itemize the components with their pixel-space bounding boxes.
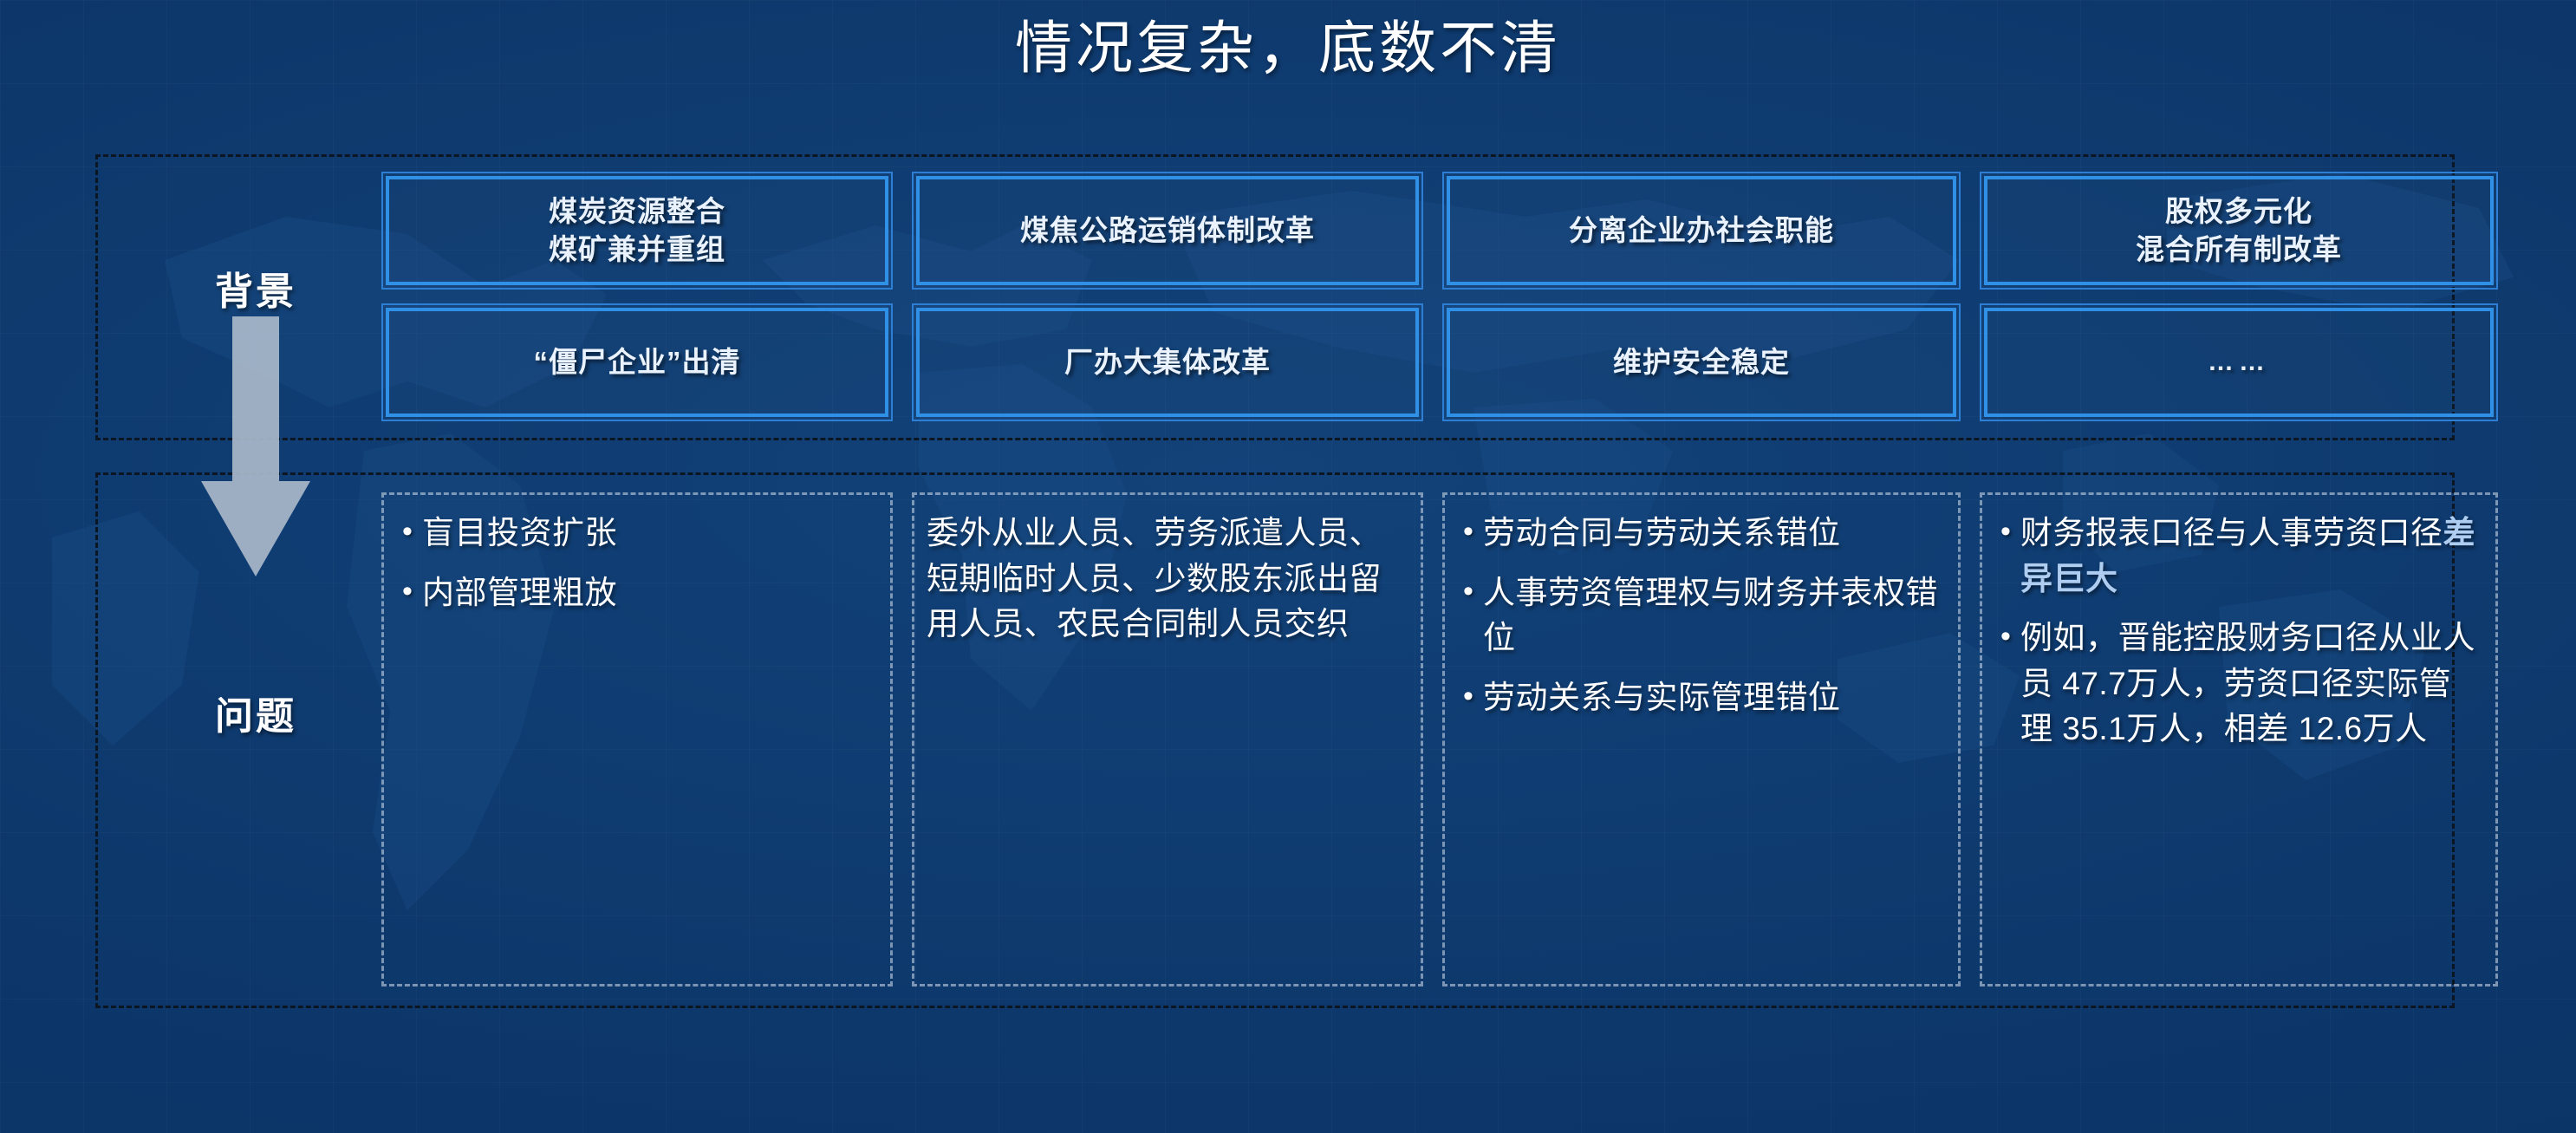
background-box[interactable]: 煤炭资源整合 煤矿兼并重组 [381, 172, 893, 290]
background-box-label: 煤炭资源整合 煤矿兼并重组 [549, 192, 725, 268]
problem-bullet-item: •劳动合同与劳动关系错位 [1454, 511, 1944, 557]
plain-phrase: 财务报表口径与人事劳资口径 [2020, 515, 2443, 550]
bullet-dot-icon: • [393, 570, 422, 612]
background-box-label: …… [2208, 345, 2270, 380]
bullet-dot-icon: • [1991, 615, 2020, 657]
problem-column-grid: •盲目投资扩张•内部管理粗放委外从业人员、劳务派遣人员、短期临时人员、少数股东派… [381, 492, 2441, 986]
background-box-frame: 煤焦公路运销体制改革 [916, 176, 1419, 285]
problem-bullet-text: 劳动关系与实际管理错位 [1483, 675, 1841, 721]
slide-title: 情况复杂，底数不清 [0, 12, 2576, 84]
background-box[interactable]: 股权多元化 混合所有制改革 [1980, 172, 2498, 290]
problem-bullet-text: 人事劳资管理权与财务并表权错位 [1483, 570, 1944, 661]
bullet-dot-icon: • [393, 511, 422, 552]
plain-phrase: 例如，晋能控股财务口径从业人员 47.7万人，劳资口径实际管理 35.1万人，相… [2020, 620, 2475, 746]
background-box-frame: 股权多元化 混合所有制改革 [1984, 176, 2494, 285]
background-box-frame: 煤炭资源整合 煤矿兼并重组 [386, 176, 888, 285]
background-box-frame: 维护安全稳定 [1447, 308, 1956, 417]
problem-column: 委外从业人员、劳务派遣人员、短期临时人员、少数股东派出留用人员、农民合同制人员交… [912, 492, 1423, 986]
background-box-frame: 分离企业办社会职能 [1447, 176, 1956, 285]
background-box[interactable]: 煤焦公路运销体制改革 [912, 172, 1423, 290]
background-box[interactable]: …… [1980, 303, 2498, 421]
background-box-frame: …… [1984, 308, 2494, 417]
problem-bullet-text: 劳动合同与劳动关系错位 [1483, 511, 1841, 557]
background-box-grid: 煤炭资源整合 煤矿兼并重组煤焦公路运销体制改革分离企业办社会职能股权多元化 混合… [381, 172, 2441, 421]
background-box-frame: “僵尸企业”出清 [386, 308, 888, 417]
background-box[interactable]: 分离企业办社会职能 [1442, 172, 1961, 290]
problem-bullet-item: •财务报表口径与人事劳资口径差异巨大 [1991, 511, 2482, 602]
section-label-problems: 问题 [169, 685, 342, 740]
slide-canvas: 情况复杂，底数不清 背景 问题 煤炭资源整合 煤矿兼并重组煤焦公路运销体制改革分… [0, 0, 2576, 1133]
bullet-dot-icon: • [1454, 511, 1483, 552]
problem-column: •盲目投资扩张•内部管理粗放 [381, 492, 893, 986]
section-label-background: 背景 [169, 260, 342, 316]
problem-bullet-item: •例如，晋能控股财务口径从业人员 47.7万人，劳资口径实际管理 35.1万人，… [1991, 615, 2482, 752]
background-box-label: 煤焦公路运销体制改革 [1020, 212, 1315, 250]
background-box[interactable]: 维护安全稳定 [1442, 303, 1961, 421]
background-box-label: 维护安全稳定 [1613, 343, 1790, 381]
problem-paragraph: 委外从业人员、劳务派遣人员、短期临时人员、少数股东派出留用人员、农民合同制人员交… [923, 511, 1407, 648]
problem-column: •劳动合同与劳动关系错位•人事劳资管理权与财务并表权错位•劳动关系与实际管理错位 [1442, 492, 1961, 986]
problem-column: •财务报表口径与人事劳资口径差异巨大•例如，晋能控股财务口径从业人员 47.7万… [1980, 492, 2498, 986]
problem-bullet-item: •劳动关系与实际管理错位 [1454, 675, 1944, 721]
problem-bullet-text: 内部管理粗放 [422, 570, 617, 616]
background-box-frame: 厂办大集体改革 [916, 308, 1419, 417]
background-box[interactable]: “僵尸企业”出清 [381, 303, 893, 421]
background-box-label: “僵尸企业”出清 [534, 343, 741, 381]
problem-bullet-text: 盲目投资扩张 [422, 511, 617, 557]
bullet-dot-icon: • [1454, 675, 1483, 717]
background-box-label: 厂办大集体改革 [1064, 343, 1271, 381]
background-box-label: 分离企业办社会职能 [1569, 212, 1834, 250]
background-box-label: 股权多元化 混合所有制改革 [2136, 192, 2342, 268]
problem-bullet-item: •内部管理粗放 [393, 570, 876, 616]
problem-bullet-item: •人事劳资管理权与财务并表权错位 [1454, 570, 1944, 661]
problem-bullet-text: 财务报表口径与人事劳资口径差异巨大 [2020, 511, 2482, 602]
bullet-dot-icon: • [1454, 570, 1483, 612]
bullet-dot-icon: • [1991, 511, 2020, 552]
problem-bullet-item: •盲目投资扩张 [393, 511, 876, 557]
background-box[interactable]: 厂办大集体改革 [912, 303, 1423, 421]
problem-bullet-text: 例如，晋能控股财务口径从业人员 47.7万人，劳资口径实际管理 35.1万人，相… [2020, 615, 2482, 752]
